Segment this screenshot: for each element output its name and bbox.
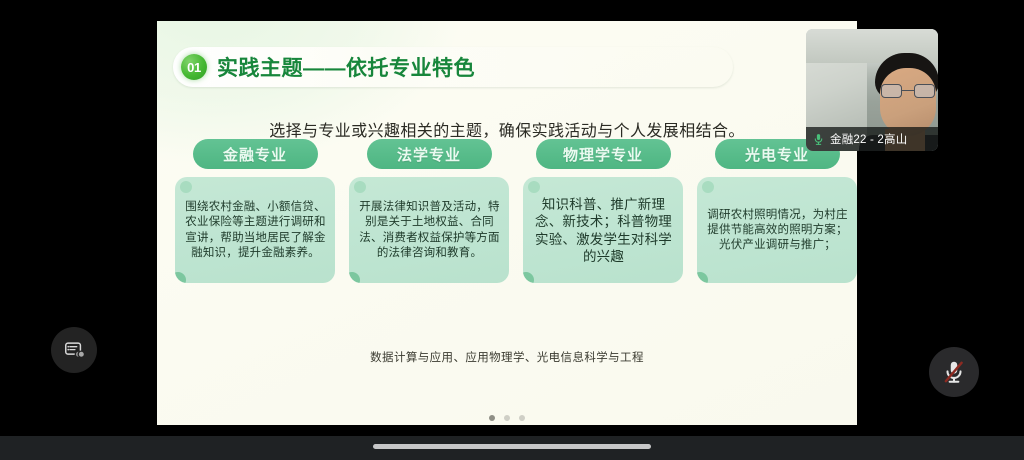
shared-slide[interactable]: 01 实践主题——依托专业特色 选择与专业或兴趣相关的主题，确保实践活动与个人发… bbox=[157, 21, 857, 425]
page-dot-2[interactable] bbox=[504, 415, 510, 421]
microphone-muted-icon bbox=[941, 359, 967, 385]
slide-page-indicator[interactable] bbox=[157, 415, 857, 421]
glasses-left-lens bbox=[881, 84, 902, 98]
page-title: 实践主题——依托专业特色 bbox=[217, 52, 475, 82]
microphone-mute-button[interactable] bbox=[929, 347, 979, 397]
app-root: 01 实践主题——依托专业特色 选择与专业或兴趣相关的主题，确保实践活动与个人发… bbox=[0, 0, 1024, 460]
slide-footnote: 数据计算与应用、应用物理学、光电信息科学与工程 bbox=[157, 349, 857, 365]
column-optoelectronics: 光电专业 调研农村照明情况，为村庄提供节能高效的照明方案；光伏产业调研与推广； bbox=[697, 139, 857, 283]
person-glasses bbox=[881, 84, 935, 98]
major-columns: 金融专业 围绕农村金融、小额信贷、农业保险等主题进行调研和宣讲，帮助当地居民了解… bbox=[175, 139, 839, 283]
major-pill-law: 法学专业 bbox=[367, 139, 492, 169]
major-card-text: 围绕农村金融、小额信贷、农业保险等主题进行调研和宣讲，帮助当地居民了解金融知识，… bbox=[184, 200, 327, 261]
major-card-text: 调研农村照明情况，为村庄提供节能高效的照明方案；光伏产业调研与推广； bbox=[706, 208, 849, 254]
card-decor-dot-bottom-icon bbox=[349, 272, 360, 283]
card-decor-dot-top-icon bbox=[180, 181, 192, 193]
whiteboard-icon bbox=[63, 339, 85, 361]
major-card-optoelectronics: 调研农村照明情况，为村庄提供节能高效的照明方案；光伏产业调研与推广； bbox=[697, 177, 857, 283]
major-card-finance: 围绕农村金融、小额信贷、农业保险等主题进行调研和宣讲，帮助当地居民了解金融知识，… bbox=[175, 177, 335, 283]
card-decor-dot-top-icon bbox=[702, 181, 714, 193]
column-finance: 金融专业 围绕农村金融、小额信贷、农业保险等主题进行调研和宣讲，帮助当地居民了解… bbox=[175, 139, 335, 283]
major-card-physics: 知识科普、推广新理念、新技术；科普物理实验、激发学生对科学的兴趣 bbox=[523, 177, 683, 283]
column-physics: 物理学专业 知识科普、推广新理念、新技术；科普物理实验、激发学生对科学的兴趣 bbox=[523, 139, 683, 283]
card-decor-dot-bottom-icon bbox=[697, 272, 708, 283]
whiteboard-button[interactable] bbox=[51, 327, 97, 373]
slide-title-bar: 01 实践主题——依托专业特色 bbox=[173, 47, 733, 87]
card-decor-dot-top-icon bbox=[354, 181, 366, 193]
system-bottom-bar bbox=[0, 436, 1024, 460]
major-card-text: 知识科普、推广新理念、新技术；科普物理实验、激发学生对科学的兴趣 bbox=[532, 196, 675, 265]
slide-number-badge: 01 bbox=[181, 54, 207, 80]
page-dot-1[interactable] bbox=[489, 415, 495, 421]
major-card-law: 开展法律知识普及活动，特别是关于土地权益、合同法、消费者权益保护等方面的法律咨询… bbox=[349, 177, 509, 283]
major-card-text: 开展法律知识普及活动，特别是关于土地权益、合同法、消费者权益保护等方面的法律咨询… bbox=[358, 200, 501, 261]
microphone-icon bbox=[812, 132, 825, 147]
glasses-bridge bbox=[902, 90, 914, 92]
glasses-right-lens bbox=[914, 84, 935, 98]
card-decor-dot-top-icon bbox=[528, 181, 540, 193]
page-dot-3[interactable] bbox=[519, 415, 525, 421]
person-face bbox=[880, 68, 936, 136]
card-decor-dot-bottom-icon bbox=[523, 272, 534, 283]
participant-video-tile[interactable]: 金融22 - 2高山 bbox=[806, 29, 938, 151]
participant-name-bar: 金融22 - 2高山 bbox=[806, 127, 938, 151]
home-indicator[interactable] bbox=[373, 444, 651, 449]
column-law: 法学专业 开展法律知识普及活动，特别是关于土地权益、合同法、消费者权益保护等方面… bbox=[349, 139, 509, 283]
participant-name: 金融22 - 2高山 bbox=[830, 131, 907, 147]
major-pill-finance: 金融专业 bbox=[193, 139, 318, 169]
major-pill-physics: 物理学专业 bbox=[536, 139, 671, 169]
slide-subtitle: 选择与专业或兴趣相关的主题，确保实践活动与个人发展相结合。 bbox=[157, 117, 857, 141]
card-decor-dot-bottom-icon bbox=[175, 272, 186, 283]
